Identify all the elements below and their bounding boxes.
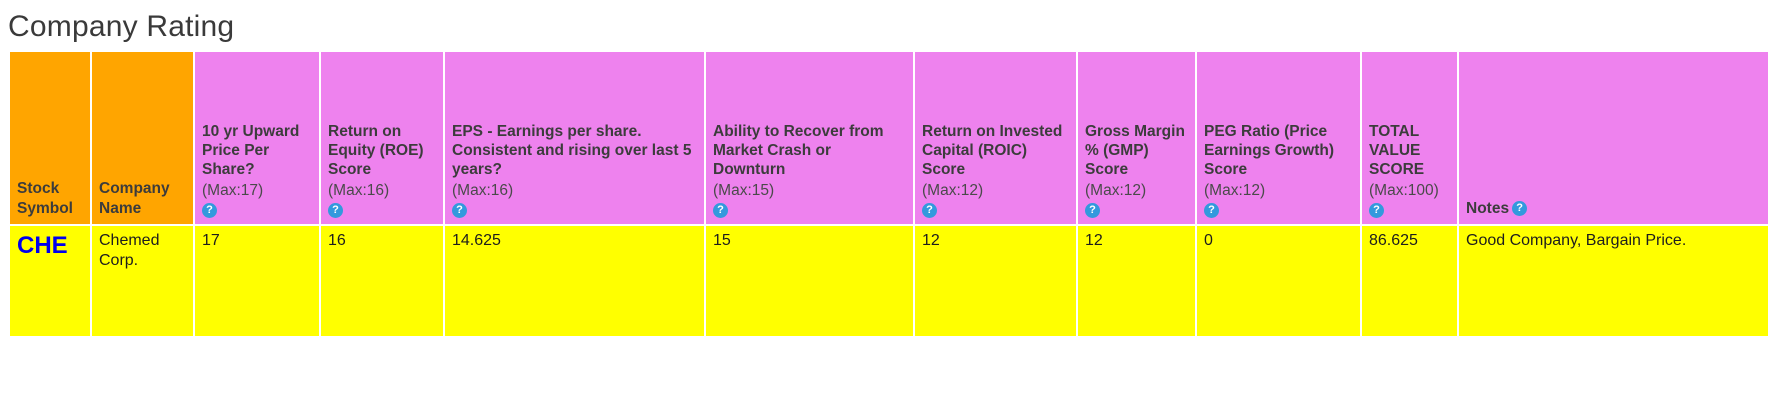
column-header-label: TOTAL VALUE SCORE — [1369, 122, 1450, 180]
column-header-label: Return on Equity (ROE) Score — [328, 122, 436, 180]
column-header-max: (Max:16) — [328, 181, 436, 200]
help-icon[interactable]: ? — [452, 203, 467, 218]
column-header-recover-score: Ability to Recover from Market Crash or … — [706, 52, 913, 224]
help-icon[interactable]: ? — [1085, 203, 1100, 218]
stock-symbol-link[interactable]: CHE — [17, 232, 68, 259]
column-header-label: 10 yr Upward Price Per Share? — [202, 122, 312, 180]
cell-gmp-score: 12 — [1078, 226, 1195, 336]
column-header-label: Stock Symbol — [17, 179, 83, 218]
column-header-max: (Max:16) — [452, 181, 697, 200]
cell-recover-score: 15 — [706, 226, 913, 336]
column-header-label: Company Name — [99, 179, 186, 218]
cell-roic-score: 12 — [915, 226, 1076, 336]
column-header-label: Notes — [1466, 200, 1509, 217]
cell-eps-score: 14.625 — [445, 226, 704, 336]
column-header-peg-score: PEG Ratio (Price Earnings Growth) Score … — [1197, 52, 1360, 224]
cell-notes: Good Company, Bargain Price. — [1459, 226, 1768, 336]
help-icon[interactable]: ? — [1512, 201, 1527, 216]
help-icon[interactable]: ? — [202, 203, 217, 218]
cell-stock-symbol: CHE — [10, 226, 90, 336]
column-header-label: PEG Ratio (Price Earnings Growth) Score — [1204, 122, 1353, 180]
column-header-max: (Max:100) — [1369, 181, 1450, 200]
column-header-max: (Max:15) — [713, 181, 906, 200]
table-row: CHE Chemed Corp. 17 16 14.625 15 12 12 0… — [10, 226, 1768, 336]
page-container: Company Rating Stock Symbol Company Name… — [0, 0, 1770, 403]
column-header-total-value-score: TOTAL VALUE SCORE (Max:100) ? — [1362, 52, 1457, 224]
column-header-max: (Max:12) — [922, 181, 1069, 200]
help-icon[interactable]: ? — [1369, 203, 1384, 218]
column-header-label: Ability to Recover from Market Crash or … — [713, 122, 906, 180]
column-header-label: Return on Invested Capital (ROIC) Score — [922, 122, 1069, 180]
column-header-notes: Notes? — [1459, 52, 1768, 224]
cell-company-name: Chemed Corp. — [92, 226, 193, 336]
column-header-label: EPS - Earnings per share. Consistent and… — [452, 122, 697, 180]
company-rating-table: Stock Symbol Company Name 10 yr Upward P… — [8, 50, 1770, 338]
help-icon[interactable]: ? — [1204, 203, 1219, 218]
column-header-stock-symbol: Stock Symbol — [10, 52, 90, 224]
help-icon[interactable]: ? — [328, 203, 343, 218]
column-header-max: (Max:17) — [202, 181, 312, 200]
cell-price-per-share-score: 17 — [195, 226, 319, 336]
column-header-roe-score: Return on Equity (ROE) Score (Max:16) ? — [321, 52, 443, 224]
table-header-row: Stock Symbol Company Name 10 yr Upward P… — [10, 52, 1768, 224]
column-header-price-per-share: 10 yr Upward Price Per Share? (Max:17) ? — [195, 52, 319, 224]
column-header-roic-score: Return on Invested Capital (ROIC) Score … — [915, 52, 1076, 224]
cell-total-value-score: 86.625 — [1362, 226, 1457, 336]
column-header-max: (Max:12) — [1085, 181, 1188, 200]
column-header-gmp-score: Gross Margin % (GMP) Score (Max:12) ? — [1078, 52, 1195, 224]
column-header-eps-score: EPS - Earnings per share. Consistent and… — [445, 52, 704, 224]
page-title: Company Rating — [0, 0, 1770, 46]
help-icon[interactable]: ? — [922, 203, 937, 218]
column-header-max: (Max:12) — [1204, 181, 1353, 200]
column-header-company-name: Company Name — [92, 52, 193, 224]
column-header-label: Gross Margin % (GMP) Score — [1085, 122, 1188, 180]
help-icon[interactable]: ? — [713, 203, 728, 218]
cell-roe-score: 16 — [321, 226, 443, 336]
cell-peg-score: 0 — [1197, 226, 1360, 336]
